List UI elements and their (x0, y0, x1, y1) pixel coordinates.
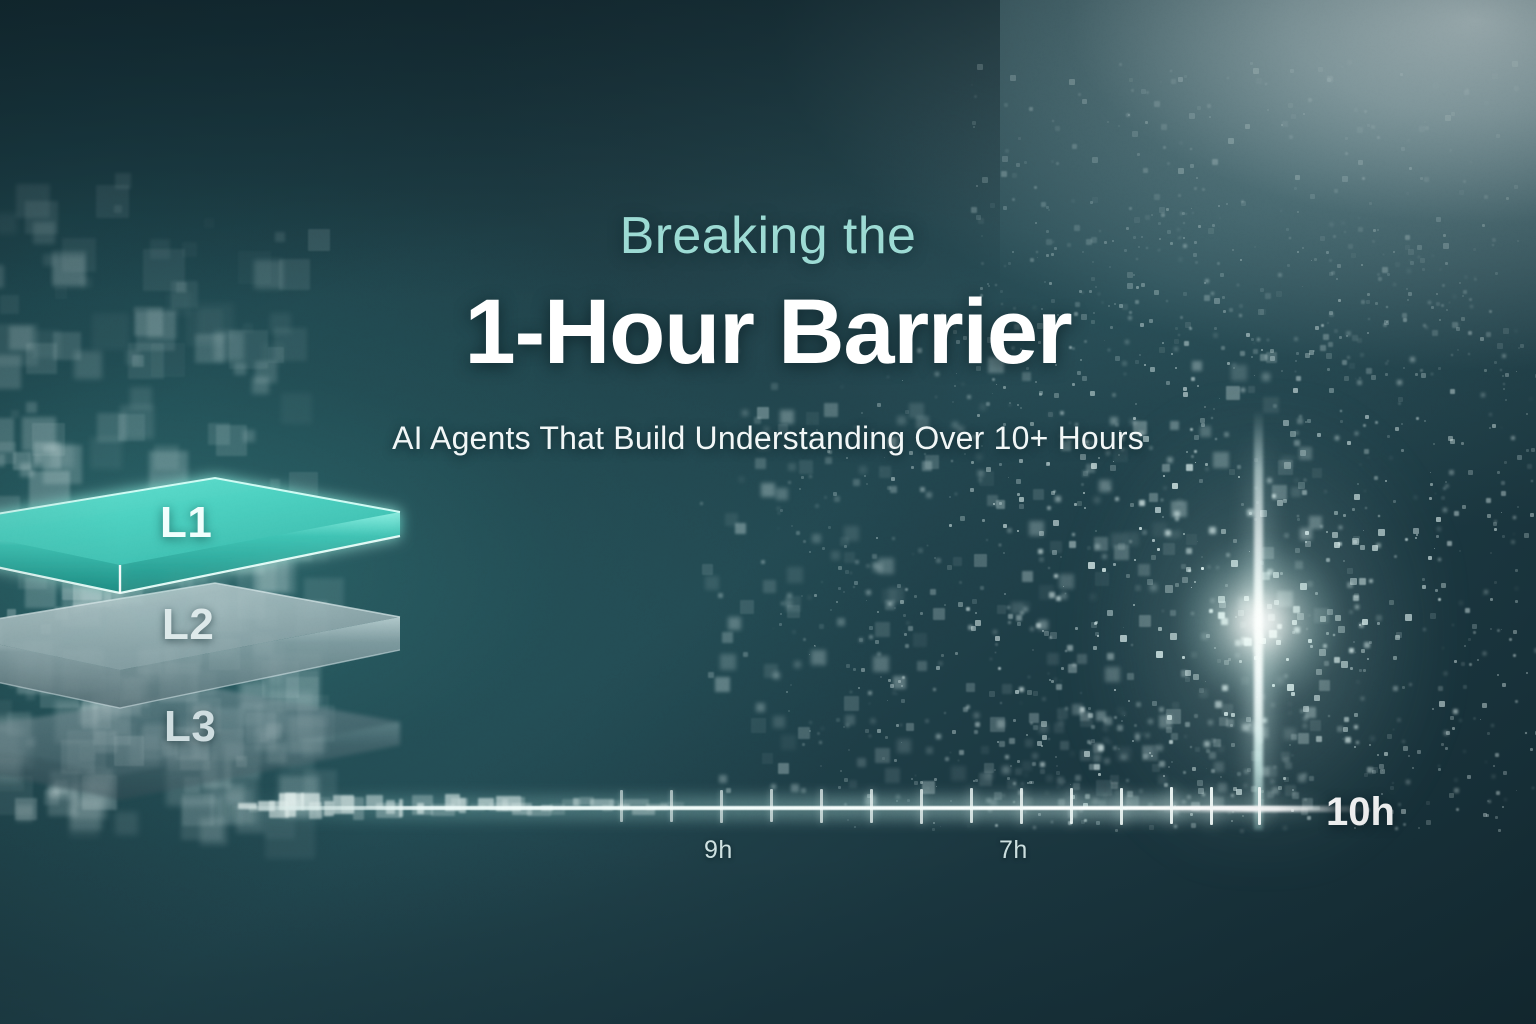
slab-label-l1: L1 (160, 498, 212, 548)
slide-canvas: L1 L2 L3 9h 7h 10h Breaking the 1-Hour B… (0, 0, 1536, 1024)
slab-label-l3: L3 (164, 702, 216, 752)
slab-label-l2: L2 (162, 600, 214, 650)
background-vignette (0, 0, 1536, 1024)
